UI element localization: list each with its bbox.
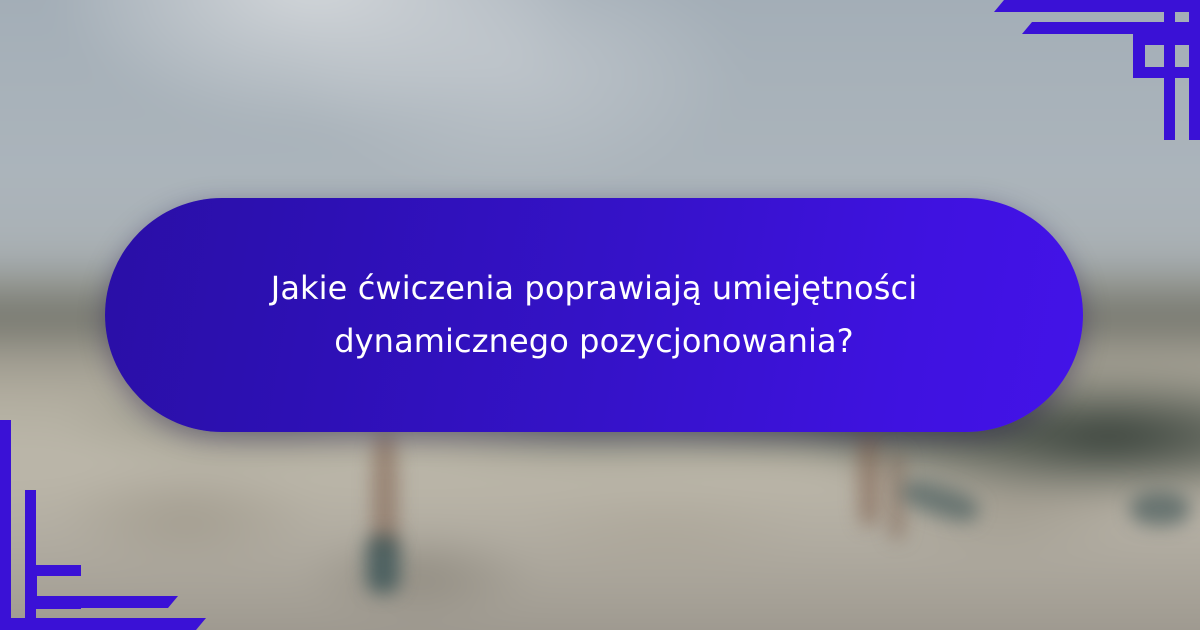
- background-figure-left-foot: [366, 535, 400, 593]
- question-text: Jakie ćwiczenia poprawiają umiejętności …: [205, 262, 983, 368]
- background-figure-left: [372, 432, 398, 552]
- background-shadow-far-right: [1130, 492, 1190, 526]
- screenshot-canvas: Jakie ćwiczenia poprawiają umiejętności …: [0, 0, 1200, 630]
- question-card: Jakie ćwiczenia poprawiają umiejętności …: [105, 198, 1083, 432]
- background-figure-right: [858, 430, 880, 526]
